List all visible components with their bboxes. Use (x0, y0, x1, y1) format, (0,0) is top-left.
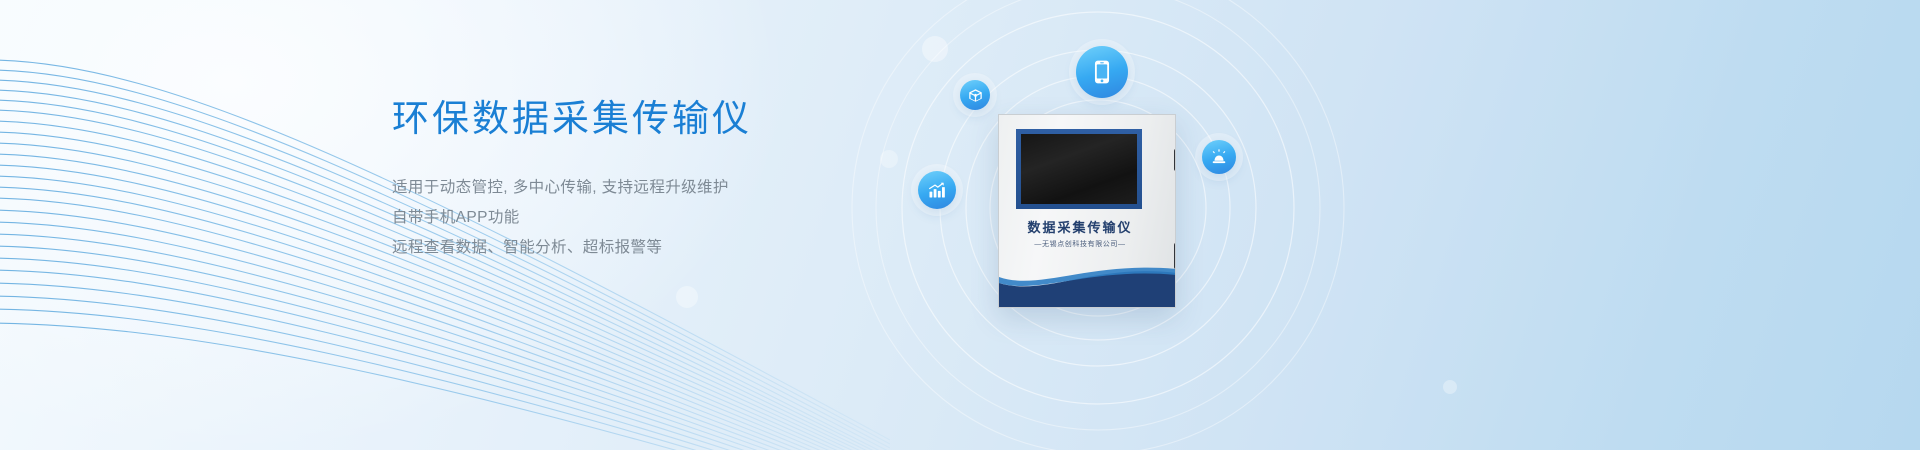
device-company-label: —无锡点创科技有限公司— (999, 239, 1161, 249)
device-screen-bezel (1016, 129, 1142, 209)
device-screen (1021, 134, 1137, 204)
product-visual: 数据采集传输仪 —无锡点创科技有限公司— (840, 0, 1920, 450)
alarm-icon (1202, 140, 1236, 174)
device-side-port (1174, 243, 1176, 269)
device-wave-graphic (999, 257, 1176, 307)
product-banner: 环保数据采集传输仪 适用于动态管控, 多中心传输, 支持远程升级维护 自带手机A… (0, 0, 1920, 450)
device-side-port (1174, 149, 1176, 171)
phone-icon (1076, 46, 1128, 98)
data-collector-device: 数据采集传输仪 —无锡点创科技有限公司— (998, 114, 1176, 308)
device-brand-label: 数据采集传输仪 (999, 217, 1161, 236)
chart-icon (918, 171, 956, 209)
decorative-dot (676, 286, 698, 308)
cube-icon (960, 80, 990, 110)
